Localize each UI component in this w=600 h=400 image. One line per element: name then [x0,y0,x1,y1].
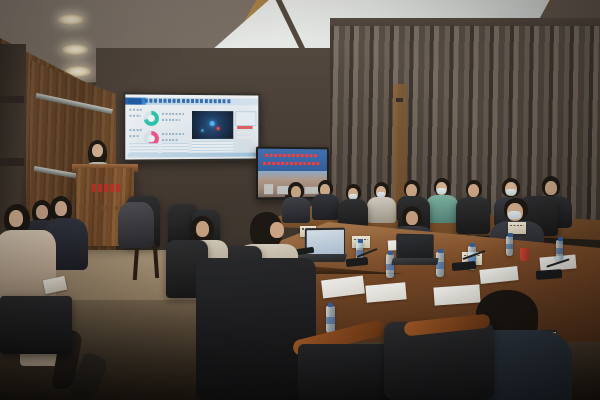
wall-niche-1 [0,96,24,103]
dashboard-logo-icon [128,98,141,104]
dashboard-video-feed [192,111,233,139]
laptop-2-base[interactable] [391,258,439,265]
bottle-cap-4 [358,239,363,243]
bottle-cap-8 [508,233,513,237]
dashboard-metric-2 [162,119,180,121]
video-alert-dot [217,127,220,130]
bottle-label-9 [556,248,563,253]
attendee-back-1-torso [282,197,310,223]
side-attendee-coat-body [118,202,154,248]
dashboard-side-panel-1 [235,111,256,126]
dashboard-title-text [145,99,231,104]
paper-document-2 [365,282,406,302]
dashboard-metric-1 [162,113,184,115]
dashboard-action-button-grey-2[interactable] [237,136,252,139]
attendee-mid-1-head [406,211,418,225]
downlight-1-icon [58,14,84,25]
bottle-cap-7 [328,303,333,307]
downlight-2-icon [62,44,88,55]
dashboard-data-table-2 [129,143,158,153]
photo-building-4 [305,187,319,194]
attendee-typing-head [270,222,284,238]
projection-screen-surface [125,94,258,159]
door-handle-icon [396,98,403,102]
dashboard-metric-4 [162,139,179,141]
attendee-back-8-face-mask [506,189,516,195]
name-card-text-4 [510,225,524,226]
display-banner-line-1 [265,154,318,157]
water-bottle-9 [556,240,563,261]
display-title-banner [258,149,327,171]
paper-document-3 [433,284,480,305]
wall-niche-2 [0,158,24,166]
dashboard-donut-chart-teal [144,111,159,126]
dashboard-footer-bar [127,153,256,158]
far-chair-3[interactable] [456,198,490,234]
bottle-cap-3 [470,243,475,247]
water-bottle-2 [436,252,444,277]
water-bottle-8 [506,236,513,256]
red-cup [520,248,529,261]
bottle-cap-9 [558,237,563,241]
meeting-room-photo [0,0,600,400]
projection-screen [123,92,260,161]
dashboard-data-table-3 [162,143,188,153]
laptop-2-screen [398,235,433,260]
bottle-cap-1 [388,251,393,255]
dashboard-data-table-1 [192,141,233,152]
dashboard-action-button-grey[interactable] [237,131,252,134]
bottle-label-7 [326,317,335,324]
dashboard-label-4 [129,135,139,137]
left-attendee-2-head [55,201,67,216]
side-chair-2[interactable] [0,296,72,354]
attendee-back-9-head [545,181,557,195]
left-attendee-1-head [36,205,48,219]
dashboard-label-3 [129,129,141,131]
left-attendee-3-head [9,210,23,227]
display-banner-line-2 [263,162,320,165]
photo-building-1 [264,184,273,194]
microphone-base-4 [536,269,563,280]
podium-emblem-text [92,184,122,192]
dashboard-action-button-red[interactable] [237,126,252,129]
attendee-back-7-head [468,184,479,197]
attendee-back-2-torso [312,194,339,220]
attendee-back-4-torso [367,197,396,223]
attendee-back-6-torso [426,195,458,223]
bottle-label-8 [506,244,513,249]
video-marker-dot [201,129,204,132]
dashboard-label-2 [129,115,140,117]
dashboard-metric-3 [162,133,184,135]
attendee-near-left-head [196,221,209,237]
bottle-cap-2 [438,249,443,253]
water-bottle-7 [326,306,335,333]
presenter-head [92,144,103,157]
attendee-back-6-face-mask [437,188,446,194]
dashboard-label-1 [129,109,141,111]
foreground-chair-2[interactable] [384,322,494,400]
attendee-mid-2-face-mask [508,211,521,219]
video-target-dot [210,121,215,126]
